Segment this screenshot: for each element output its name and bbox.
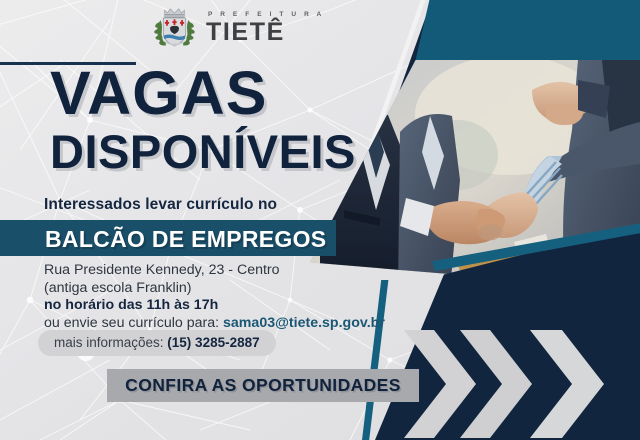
- address-line-2: (antiga escola Franklin): [44, 280, 444, 298]
- headline-line-1: VAGAS: [50, 63, 267, 124]
- cta-button-label: CONFIRA AS OPORTUNIDADES: [125, 375, 401, 396]
- chevron-right-icon: [530, 330, 612, 438]
- prefeitura-logo: P R E F E I T U R A TIETÊ: [152, 6, 324, 51]
- logo-city-name: TIETÊ: [206, 20, 324, 45]
- cta-button[interactable]: CONFIRA AS OPORTUNIDADES: [107, 369, 419, 402]
- more-info-pill: mais informações: (15) 3285-2887: [38, 330, 276, 356]
- phone-number[interactable]: (15) 3285-2887: [167, 335, 259, 350]
- chevron-right-icon: [460, 330, 540, 438]
- coat-of-arms-icon: [152, 6, 197, 51]
- address-line-1: Rua Presidente Kennedy, 23 - Centro: [44, 262, 444, 280]
- headline-line-2: DISPONÍVEIS: [50, 128, 356, 175]
- balcao-banner-label: BALCÃO DE EMPREGOS: [45, 226, 326, 253]
- email-prefix: ou envie seu currículo para:: [44, 315, 223, 331]
- opening-hours: no horário das 11h às 17h: [44, 297, 444, 315]
- job-vacancy-poster: P R E F E I T U R A TIETÊ VAGAS DISPONÍV…: [0, 0, 640, 440]
- subheading: Interessados levar currículo no: [44, 196, 277, 214]
- more-info-label: mais informações:: [54, 335, 167, 350]
- address-block: Rua Presidente Kennedy, 23 - Centro (ant…: [44, 262, 444, 332]
- email-address[interactable]: sama03@tiete.sp.gov.br: [223, 315, 385, 331]
